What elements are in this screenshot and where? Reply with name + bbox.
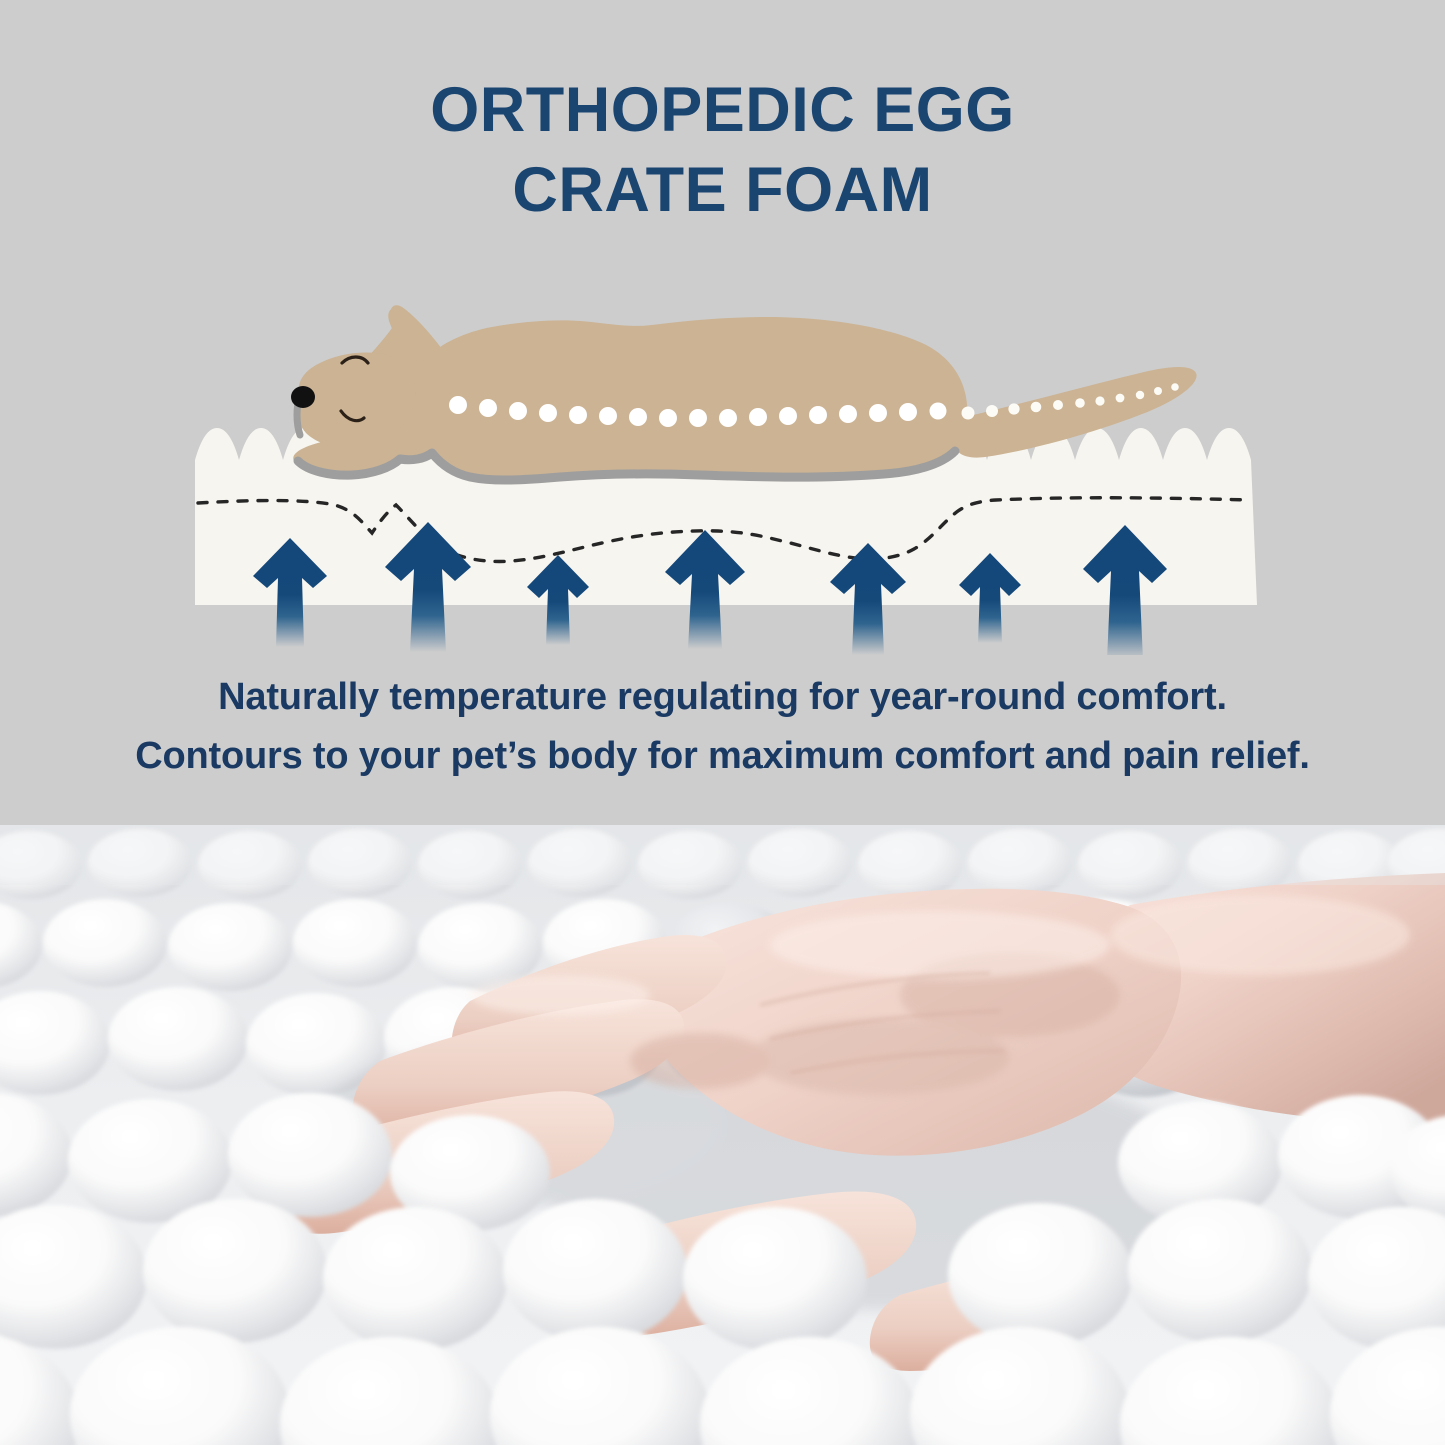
- product-infographic: ORTHOPEDIC EGG CRATE FOAM: [0, 0, 1445, 1445]
- top-info-panel: ORTHOPEDIC EGG CRATE FOAM: [0, 0, 1445, 825]
- headline-line-1: ORTHOPEDIC EGG: [0, 70, 1445, 150]
- subtitle-line-1: Naturally temperature regulating for yea…: [0, 668, 1445, 727]
- dog-body: [350, 309, 968, 480]
- foam-support-illustration: [0, 285, 1445, 655]
- page-title: ORTHOPEDIC EGG CRATE FOAM: [0, 70, 1445, 230]
- subtitle-line-2: Contours to your pet’s body for maximum …: [0, 727, 1445, 786]
- foam-hand-photo: [0, 825, 1445, 1445]
- feature-description: Naturally temperature regulating for yea…: [0, 668, 1445, 786]
- headline-line-2: CRATE FOAM: [0, 150, 1445, 230]
- dog-nose: [291, 386, 315, 408]
